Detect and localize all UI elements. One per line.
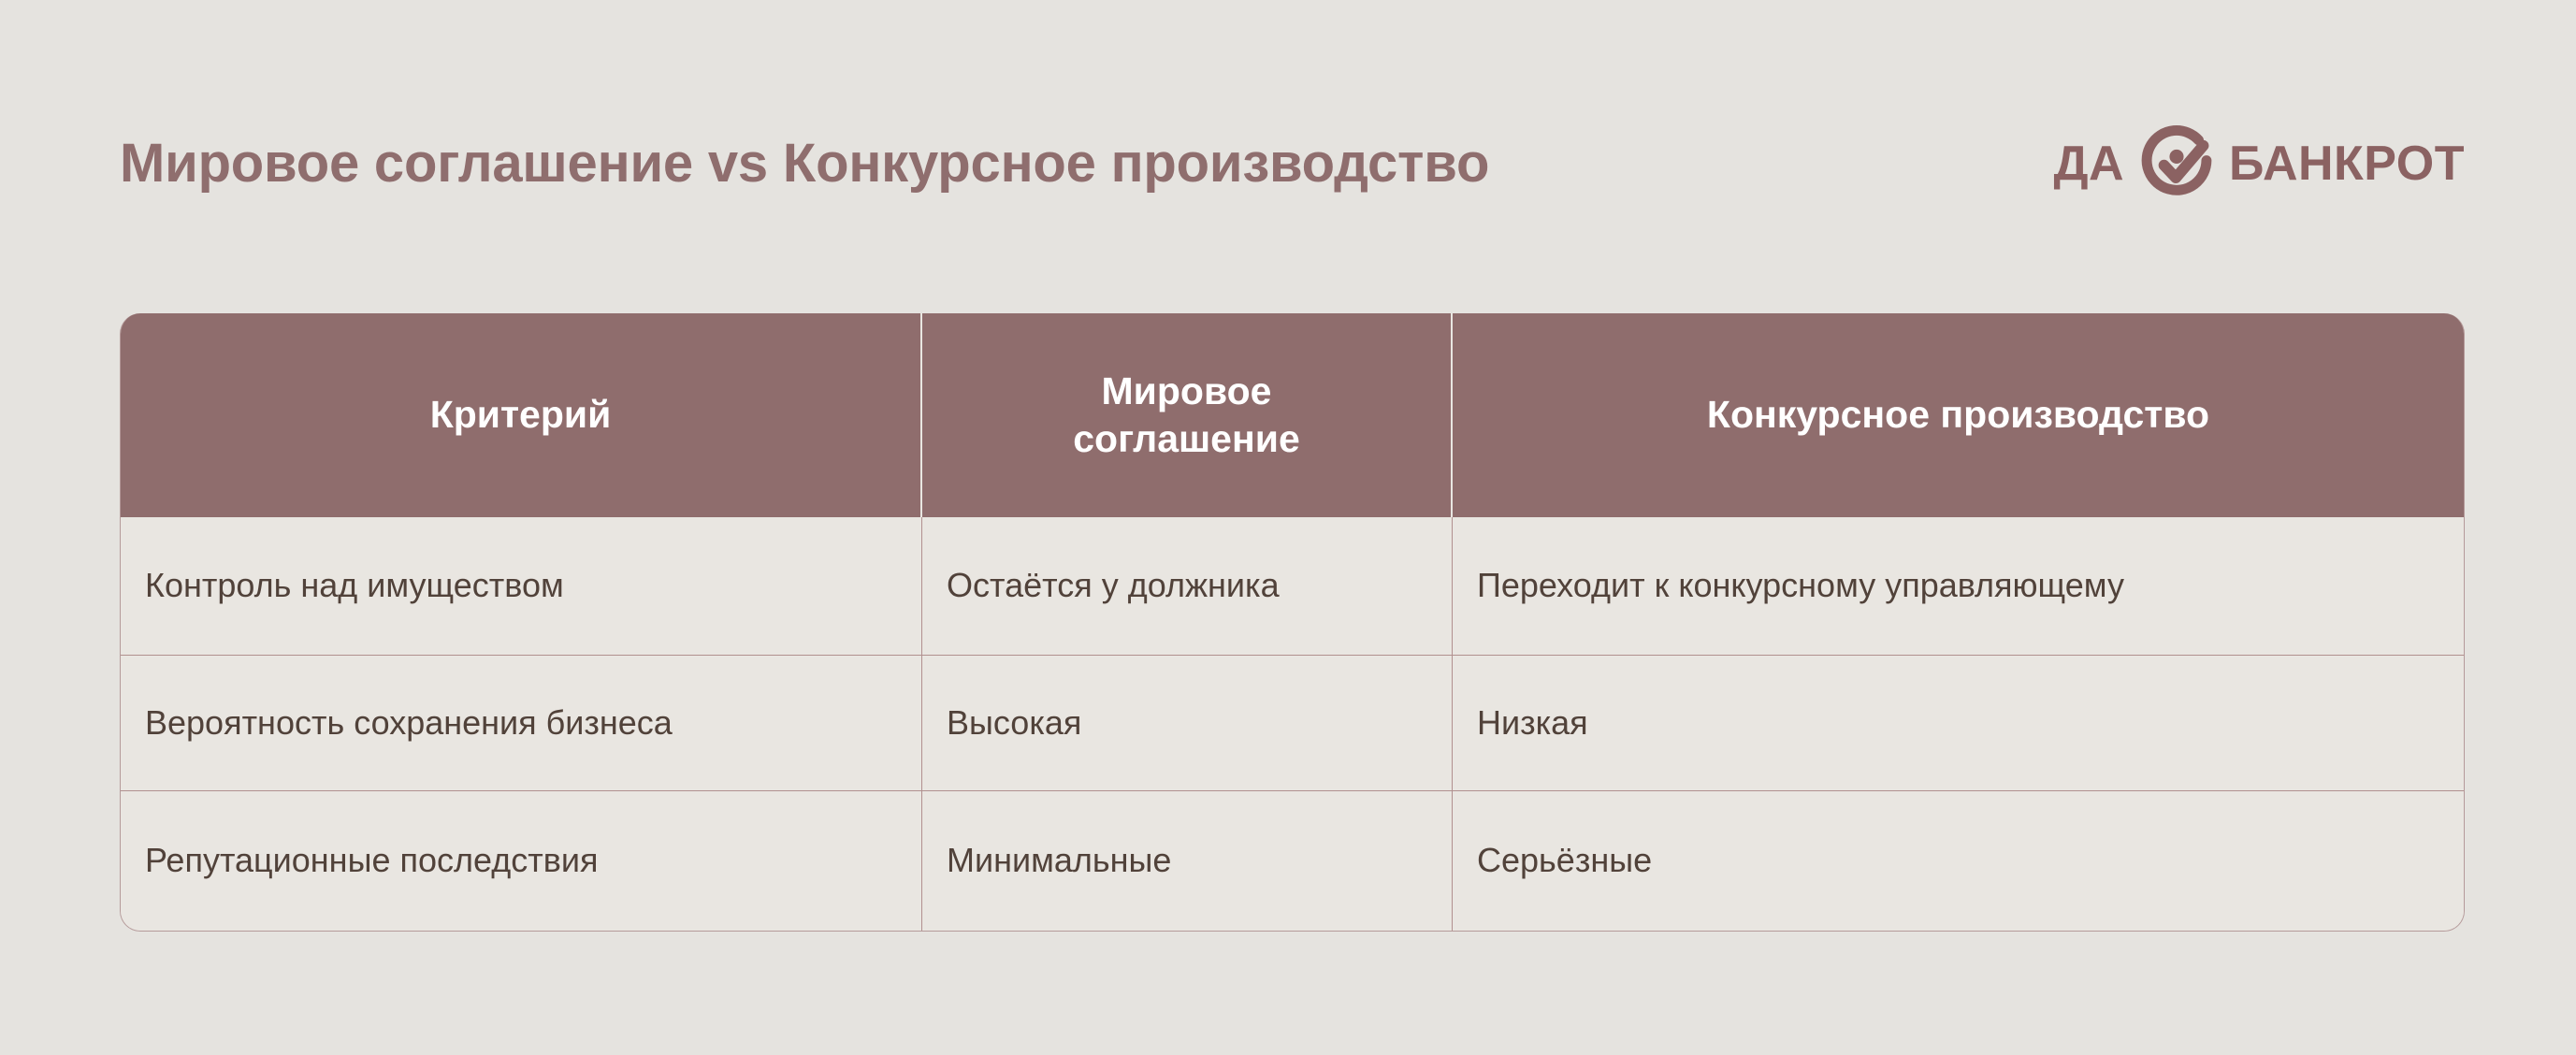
table-row: Контроль над имуществом Остаётся у должн… [121, 517, 2464, 655]
header-bar: Мировое соглашение vs Конкурсное произво… [120, 112, 2465, 215]
cell-bankruptcy: Низкая [1453, 656, 2464, 790]
cell-settlement-text: Минимальные [947, 839, 1171, 883]
cell-bankruptcy-text: Серьёзные [1477, 839, 1652, 883]
table-row: Вероятность сохранения бизнеса Высокая Н… [121, 655, 2464, 790]
column-header-bankruptcy-label: Конкурсное производство [1707, 391, 2209, 439]
brand-logo: ДА БАНКРОТ [2053, 124, 2465, 203]
page-title: Мировое соглашение vs Конкурсное произво… [120, 134, 1489, 194]
column-header-settlement: Мировое соглашение [922, 313, 1453, 517]
cell-criterion-text: Контроль над имуществом [145, 564, 564, 608]
column-header-settlement-label: Мировое соглашение [1073, 368, 1300, 464]
cell-settlement: Минимальные [922, 791, 1453, 931]
cell-criterion: Контроль над имуществом [121, 517, 922, 655]
column-header-criterion-label: Критерий [430, 391, 612, 439]
cell-bankruptcy-text: Переходит к конкурсному управляющему [1477, 564, 2124, 608]
cell-settlement: Высокая [922, 656, 1453, 790]
column-header-criterion: Критерий [121, 313, 922, 517]
cell-bankruptcy-text: Низкая [1477, 701, 1588, 745]
table-row: Репутационные последствия Минимальные Се… [121, 790, 2464, 931]
logo-word-right: БАНКРОТ [2229, 139, 2465, 188]
cell-settlement: Остаётся у должника [922, 517, 1453, 655]
cell-criterion: Вероятность сохранения бизнеса [121, 656, 922, 790]
cell-settlement-text: Высокая [947, 701, 1081, 745]
cell-criterion-text: Репутационные последствия [145, 839, 598, 883]
cell-criterion: Репутационные последствия [121, 791, 922, 931]
cell-criterion-text: Вероятность сохранения бизнеса [145, 701, 673, 745]
cell-bankruptcy: Переходит к конкурсному управляющему [1453, 517, 2464, 655]
cell-settlement-text: Остаётся у должника [947, 564, 1280, 608]
column-header-bankruptcy: Конкурсное производство [1453, 313, 2464, 517]
comparison-table: Критерий Мировое соглашение Конкурсное п… [120, 313, 2465, 932]
circle-check-icon [2137, 124, 2216, 203]
column-header-settlement-line2: соглашение [1073, 415, 1300, 463]
cell-bankruptcy: Серьёзные [1453, 791, 2464, 931]
infographic-page: Мировое соглашение vs Конкурсное произво… [0, 0, 2576, 1055]
table-header-row: Критерий Мировое соглашение Конкурсное п… [121, 313, 2464, 517]
column-header-settlement-line1: Мировое [1073, 368, 1300, 415]
logo-word-left: ДА [2053, 139, 2124, 188]
